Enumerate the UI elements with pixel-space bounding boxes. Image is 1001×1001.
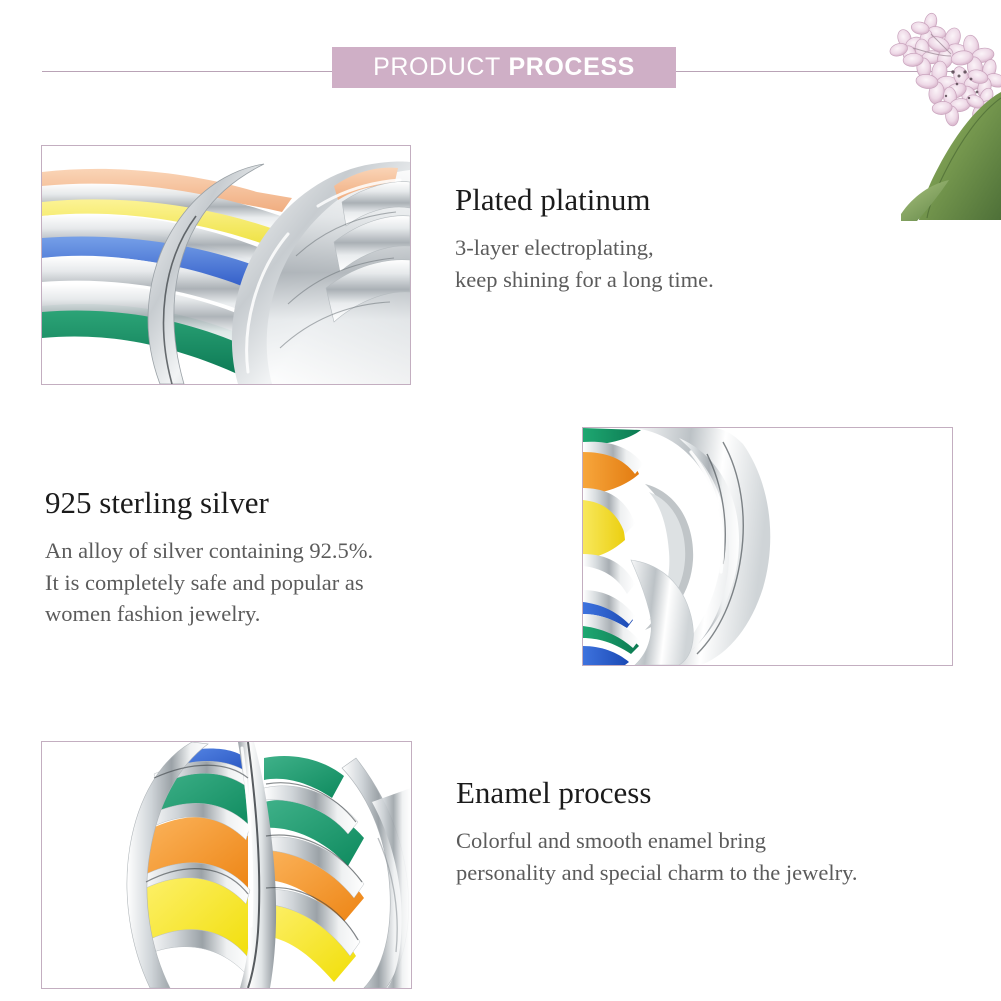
body-plated-platinum: 3-layer electroplating, keep shining for… (455, 232, 714, 296)
body-sterling-silver: An alloy of silver containing 92.5%. It … (45, 535, 373, 631)
photo-inner-1 (42, 146, 410, 384)
product-photo-enamel-process (41, 741, 412, 989)
text-block-enamel-process: Enamel process Colorful and smooth ename… (456, 775, 858, 888)
page-header: PRODUCT PROCESS (0, 0, 1001, 120)
text-block-sterling-silver: 925 sterling silver An alloy of silver c… (45, 485, 373, 630)
body-line: 3-layer electroplating, (455, 232, 714, 264)
header-title-bold: PROCESS (508, 53, 634, 81)
heading-sterling-silver: 925 sterling silver (45, 485, 373, 522)
text-block-plated-platinum: Plated platinum 3-layer electroplating, … (455, 182, 714, 295)
body-line: Colorful and smooth enamel bring (456, 825, 858, 857)
photo-inner-3 (42, 742, 411, 988)
body-enamel-process: Colorful and smooth enamel bring persona… (456, 825, 858, 889)
body-line: keep shining for a long time. (455, 264, 714, 296)
leaf-shape-small (901, 180, 949, 221)
body-line: women fashion jewelry. (45, 598, 373, 630)
header-title-light: PRODUCT (373, 53, 501, 81)
header-title-banner: PRODUCT PROCESS (332, 47, 676, 88)
body-line: It is completely safe and popular as (45, 567, 373, 599)
body-line: An alloy of silver containing 92.5%. (45, 535, 373, 567)
header-title-text: PRODUCT PROCESS (373, 55, 635, 80)
heading-plated-platinum: Plated platinum (455, 182, 714, 219)
photo-inner-2 (583, 428, 952, 665)
header-rule-left (42, 71, 332, 72)
header-rule-right (676, 71, 958, 72)
product-photo-sterling-silver (582, 427, 953, 666)
body-line: personality and special charm to the jew… (456, 857, 858, 889)
heading-enamel-process: Enamel process (456, 775, 858, 812)
product-photo-plated-platinum (41, 145, 411, 385)
